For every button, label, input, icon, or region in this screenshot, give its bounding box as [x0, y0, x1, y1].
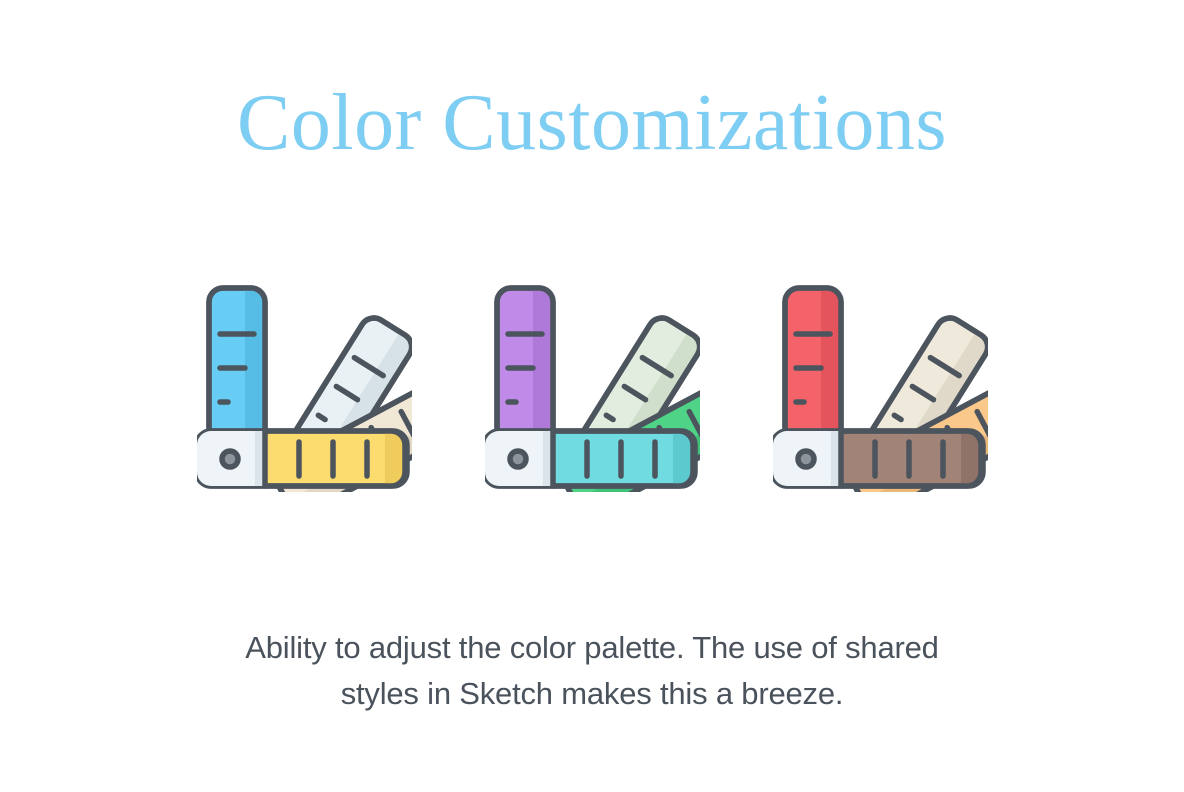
- swatch-base-bar: [197, 431, 407, 486]
- palette-icon-row: [0, 272, 1184, 502]
- caption-line-2: styles in Sketch makes this a breeze.: [0, 671, 1184, 717]
- slide-canvas: Color Customizations: [0, 0, 1184, 792]
- caption-text: Ability to adjust the color palette. The…: [0, 625, 1184, 717]
- page-title: Color Customizations: [0, 83, 1184, 163]
- caption-line-1: Ability to adjust the color palette. The…: [0, 625, 1184, 671]
- knob-icon: [798, 451, 814, 467]
- knob-icon: [222, 451, 238, 467]
- color-swatch-fan-icon: [485, 272, 700, 492]
- swatch-base-bar: [485, 431, 695, 486]
- swatch-base-bar: [773, 431, 983, 486]
- color-swatch-fan-icon: [773, 272, 988, 492]
- knob-icon: [510, 451, 526, 467]
- palette-group-1[interactable]: [485, 272, 700, 492]
- palette-group-2[interactable]: [773, 272, 988, 492]
- color-swatch-fan-icon: [197, 272, 412, 492]
- palette-group-0[interactable]: [197, 272, 412, 492]
